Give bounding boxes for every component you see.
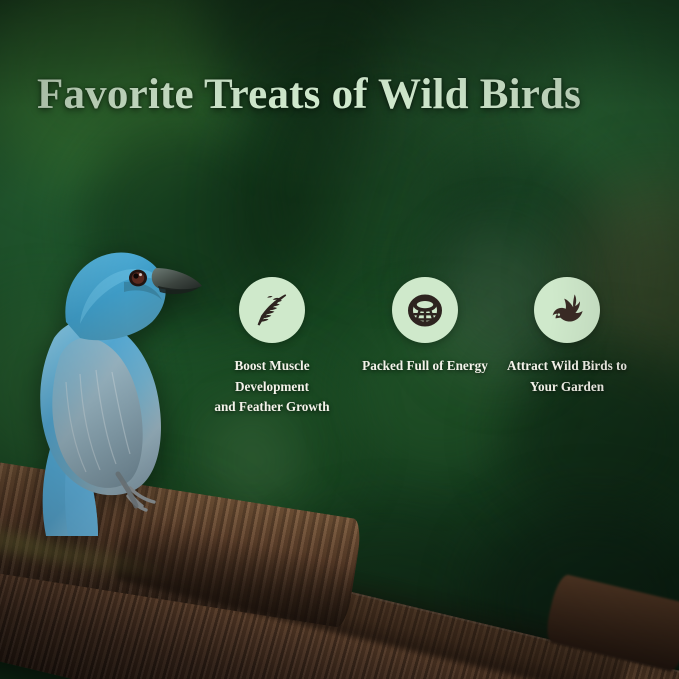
vignette-overlay: [0, 0, 679, 679]
product-banner: Favorite Treats of Wild Birds: [0, 0, 679, 679]
